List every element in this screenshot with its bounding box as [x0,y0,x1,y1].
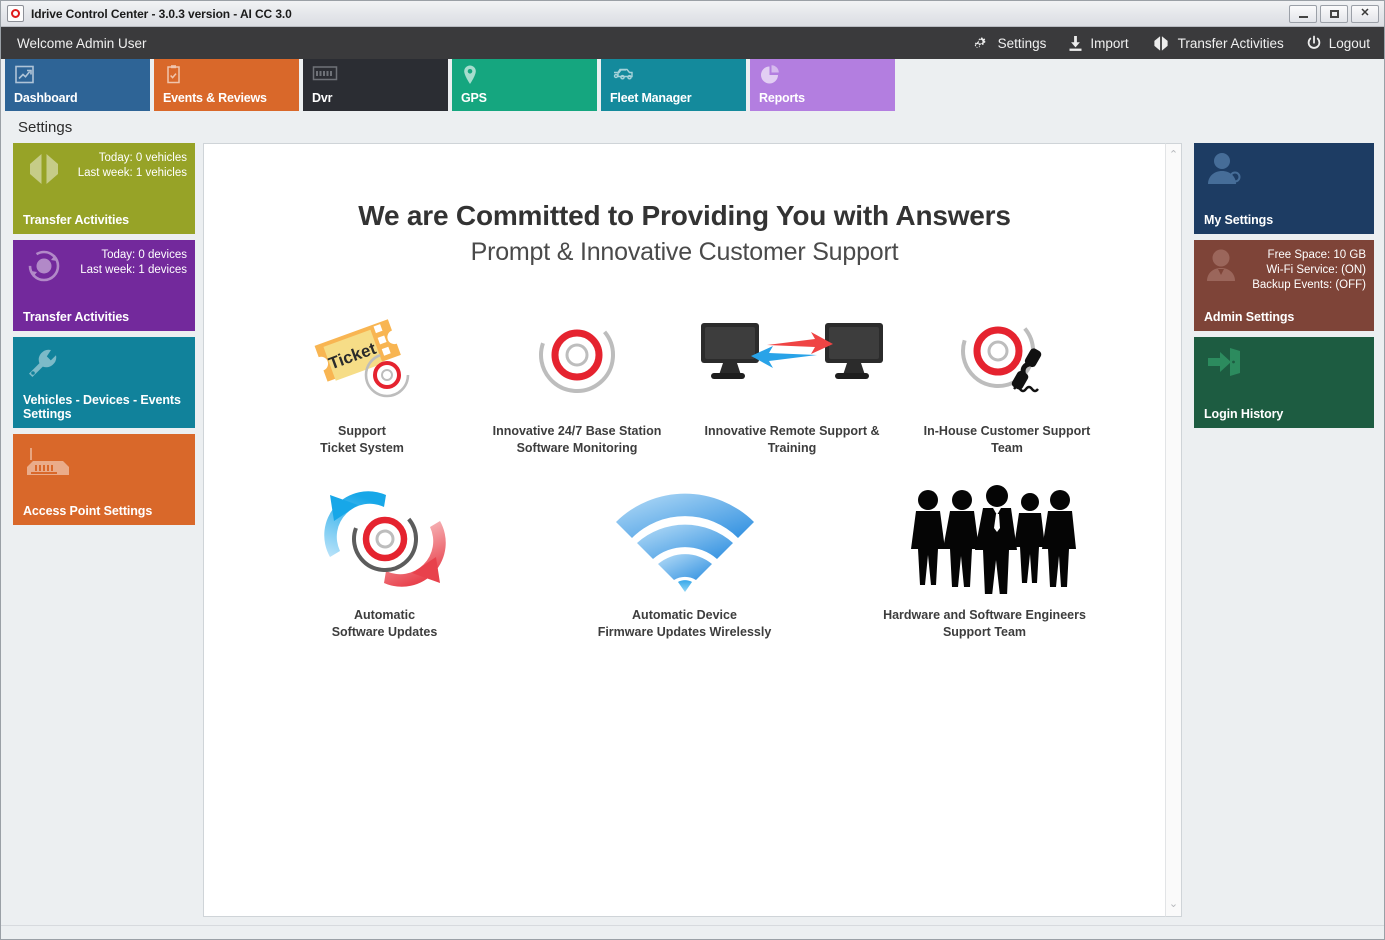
tile-admin-settings[interactable]: Free Space: 10 GB Wi-Fi Service: (ON) Ba… [1194,240,1374,331]
tile-vehicles-devices-events-settings[interactable]: Vehicles - Devices - Events Settings [13,337,195,428]
wrench-icon [23,345,67,386]
window-controls: ✕ [1289,5,1382,23]
status-bar [1,925,1384,939]
clipboard-check-icon [163,64,291,86]
power-icon [1306,35,1322,52]
tab-dashboard[interactable]: Dashboard [5,59,150,111]
right-tile-rail: My Settings Free Space: 10 GB Wi-Fi Serv… [1194,143,1374,917]
scroll-down-icon[interactable]: ⌄ [1169,899,1178,910]
tile-stat-line: Last week: 1 devices [80,263,187,278]
feature-grid: Ticket Support Ticket System [204,301,1165,641]
tab-dashboard-label: Dashboard [14,92,142,105]
feature-row-1: Ticket Support Ticket System [204,301,1165,457]
welcome-message: Welcome Admin User [17,36,147,51]
tab-gps[interactable]: GPS [452,59,597,111]
tab-events-reviews-label: Events & Reviews [163,92,291,105]
sync-circle-icon [23,248,65,289]
pie-chart-icon [759,64,887,86]
tab-fleet-manager[interactable]: Fleet Manager [601,59,746,111]
tab-fleet-manager-label: Fleet Manager [610,92,738,105]
dvr-icon [312,64,440,86]
engineers-team-icon [890,485,1080,593]
support-ticket-icon: Ticket [307,301,417,409]
tile-label: Login History [1204,407,1366,421]
router-icon [23,442,75,485]
tile-stat-line: Backup Events: (OFF) [1252,278,1366,293]
header-actions: Settings Import Transf [971,34,1370,52]
scroll-up-icon[interactable]: ⌃ [1169,150,1178,161]
header-transfer-activities-button[interactable]: Transfer Activities [1151,35,1284,52]
title-bar: Idrive Control Center - 3.0.3 version - … [1,1,1384,27]
feature-caption: Innovative Remote Support & Training [704,423,879,457]
breadcrumb-label: Settings [18,119,72,136]
gears-icon [971,34,991,52]
tile-label: Admin Settings [1204,310,1366,324]
header-logout-button[interactable]: Logout [1306,35,1370,52]
feature-automatic-software-updates: Automatic Software Updates [235,485,535,641]
tile-access-point-settings[interactable]: Access Point Settings [13,434,195,525]
tile-stat-line: Last week: 1 vehicles [78,166,187,181]
feature-remote-support-training: Innovative Remote Support & Training [685,301,900,457]
feature-caption: Support Ticket System [320,423,404,457]
vehicles-icon [610,64,738,86]
tile-my-settings[interactable]: My Settings [1194,143,1374,234]
tile-login-history[interactable]: Login History [1194,337,1374,428]
header-logout-label: Logout [1329,36,1370,51]
transfer-arrows-icon [23,151,65,192]
tile-label: Transfer Activities [23,310,187,324]
tile-label: Transfer Activities [23,213,187,227]
tab-dvr-label: Dvr [312,92,440,105]
feature-caption: Hardware and Software Engineers Support … [883,607,1086,641]
remote-support-monitors-icon [697,301,887,409]
body-area: Today: 0 vehicles Last week: 1 vehicles … [1,143,1384,925]
content-panel: We are Committed to Providing You with A… [203,143,1165,917]
tile-stat-line: Today: 0 devices [80,248,187,263]
content-scrollbar[interactable]: ⌃ ⌄ [1165,143,1182,917]
maximize-button[interactable] [1320,5,1348,23]
module-tab-bar: Dashboard Events & Reviews Dvr GPS Fleet [1,59,1384,111]
tab-dvr[interactable]: Dvr [303,59,448,111]
header-settings-button[interactable]: Settings [971,34,1047,52]
tile-stats: Today: 0 vehicles Last week: 1 vehicles [78,151,187,181]
feature-automatic-firmware-updates: Automatic Device Firmware Updates Wirele… [535,485,835,641]
tile-stat-line: Today: 0 vehicles [78,151,187,166]
application-window: Idrive Control Center - 3.0.3 version - … [0,0,1385,940]
tile-stat-line: Wi-Fi Service: (ON) [1252,263,1366,278]
tab-reports[interactable]: Reports [750,59,895,111]
page-headline: We are Committed to Providing You with A… [204,200,1165,232]
tab-gps-label: GPS [461,92,589,105]
tile-stat-line: Free Space: 10 GB [1252,248,1366,263]
tile-label: Vehicles - Devices - Events Settings [23,393,187,421]
support-phone-icon [952,301,1062,409]
window-title: Idrive Control Center - 3.0.3 version - … [31,7,292,21]
header-import-label: Import [1090,36,1128,51]
feature-inhouse-customer-support-team: In-House Customer Support Team [900,301,1115,457]
header-import-button[interactable]: Import [1068,35,1128,52]
main-content-area: We are Committed to Providing You with A… [203,143,1182,917]
close-button[interactable]: ✕ [1351,5,1379,23]
breadcrumb: Settings [1,111,1384,143]
map-pin-icon [461,64,589,86]
feature-caption: In-House Customer Support Team [924,423,1091,457]
header-settings-label: Settings [998,36,1047,51]
left-tile-rail: Today: 0 vehicles Last week: 1 vehicles … [13,143,195,917]
feature-engineers-support-team: Hardware and Software Engineers Support … [835,485,1135,641]
admin-user-icon [1204,248,1242,289]
minimize-button[interactable] [1289,5,1317,23]
auto-software-update-icon [300,485,470,593]
tile-label: Access Point Settings [23,504,187,518]
top-header-bar: Welcome Admin User Settings [1,27,1384,59]
feature-caption: Automatic Software Updates [332,607,438,641]
tile-transfer-activities-vehicles[interactable]: Today: 0 vehicles Last week: 1 vehicles … [13,143,195,234]
page-subheadline: Prompt & Innovative Customer Support [204,238,1165,267]
hero-section: We are Committed to Providing You with A… [204,144,1165,267]
base-station-monitoring-icon [534,301,620,409]
header-transfer-label: Transfer Activities [1178,36,1284,51]
tile-stats: Free Space: 10 GB Wi-Fi Service: (ON) Ba… [1252,248,1366,293]
wifi-signal-icon [610,485,760,593]
user-gear-icon [1204,151,1244,192]
download-icon [1068,35,1083,52]
close-icon: ✕ [1360,8,1369,19]
feature-caption: Automatic Device Firmware Updates Wirele… [598,607,772,641]
feature-base-station-monitoring: Innovative 24/7 Base Station Software Mo… [470,301,685,457]
feature-caption: Innovative 24/7 Base Station Software Mo… [493,423,662,457]
feature-support-ticket-system: Ticket Support Ticket System [255,301,470,457]
tile-stats: Today: 0 devices Last week: 1 devices [80,248,187,278]
chart-arrow-icon [14,64,142,86]
tab-reports-label: Reports [759,92,887,105]
tile-label: My Settings [1204,213,1366,227]
feature-row-2: Automatic Software Updates [204,485,1165,641]
app-logo-icon [7,5,24,22]
tab-events-reviews[interactable]: Events & Reviews [154,59,299,111]
transfer-arrows-icon [1151,35,1171,52]
login-door-icon [1204,345,1244,384]
tile-transfer-activities-devices[interactable]: Today: 0 devices Last week: 1 devices Tr… [13,240,195,331]
